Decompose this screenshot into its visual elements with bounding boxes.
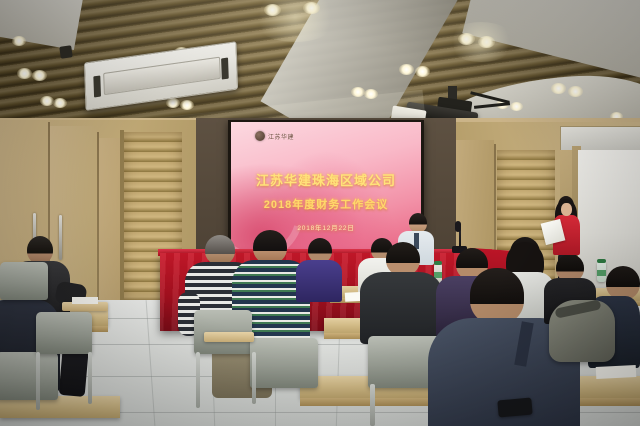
slide-logo-text: 江苏华建 (268, 132, 294, 141)
chair-frame (370, 384, 375, 426)
downlight (399, 64, 414, 75)
audience-torso (296, 260, 342, 302)
chair-tablet-arm (204, 332, 254, 342)
bottle-cap-icon (597, 259, 606, 263)
downlight-glow (446, 22, 516, 62)
ceiling-sensor-icon (59, 45, 73, 59)
downlight (180, 100, 194, 110)
downlight (351, 87, 365, 97)
conference-room-photo: 江苏华建 江苏华建珠海区域公司 2018年度财务工作会议 2018年12月22日 (0, 0, 640, 426)
audience-head (27, 236, 53, 264)
company-logo-icon (255, 131, 265, 141)
slide-title: 江苏华建珠海区域公司 (231, 170, 421, 189)
audience-head (205, 235, 235, 265)
downlight (415, 66, 430, 77)
audience-chair (250, 338, 318, 388)
bottle-label (597, 270, 606, 276)
downlight (17, 68, 32, 79)
smartphone-on-desk[interactable] (497, 398, 532, 418)
audience-head (253, 230, 287, 264)
downlight (364, 89, 378, 99)
chair-frame (252, 352, 256, 404)
audience-chair (0, 352, 58, 400)
ac-center-panel (103, 57, 220, 96)
presenter-head (409, 213, 427, 233)
backpack (549, 300, 615, 362)
microphone-head (455, 221, 461, 232)
notepad (596, 365, 637, 379)
bottle-cap-icon (434, 261, 442, 265)
audience-head-foreground (470, 268, 524, 324)
downlight (510, 102, 523, 111)
downlight (32, 70, 47, 81)
downlight (53, 98, 67, 108)
downlight (166, 98, 180, 108)
ac-vent-right (221, 57, 229, 79)
chair-frame (88, 352, 92, 404)
downlight (568, 86, 583, 97)
slide-subtitle: 2018年度财务工作会议 (231, 196, 421, 212)
door-handle[interactable] (59, 215, 62, 260)
slide-date: 2018年12月22日 (231, 222, 421, 232)
notepad (72, 297, 98, 304)
backpack-strap (554, 299, 601, 318)
chair-frame (36, 352, 40, 410)
audience-dark-tee (360, 272, 442, 344)
slide-logo: 江苏华建 (255, 131, 294, 141)
chair-frame (196, 352, 200, 408)
audience-head (386, 242, 420, 276)
bottle-label (434, 272, 442, 278)
downlight (40, 96, 54, 106)
audience-chair (36, 312, 92, 354)
downlight (551, 83, 566, 94)
slat-panel-border (120, 130, 124, 302)
audience-head (606, 266, 640, 300)
standing-woman-face (561, 203, 572, 216)
audience-chair (0, 262, 48, 300)
ac-vent-left (93, 75, 101, 97)
downlight (12, 36, 26, 46)
water-bottle (597, 262, 606, 282)
